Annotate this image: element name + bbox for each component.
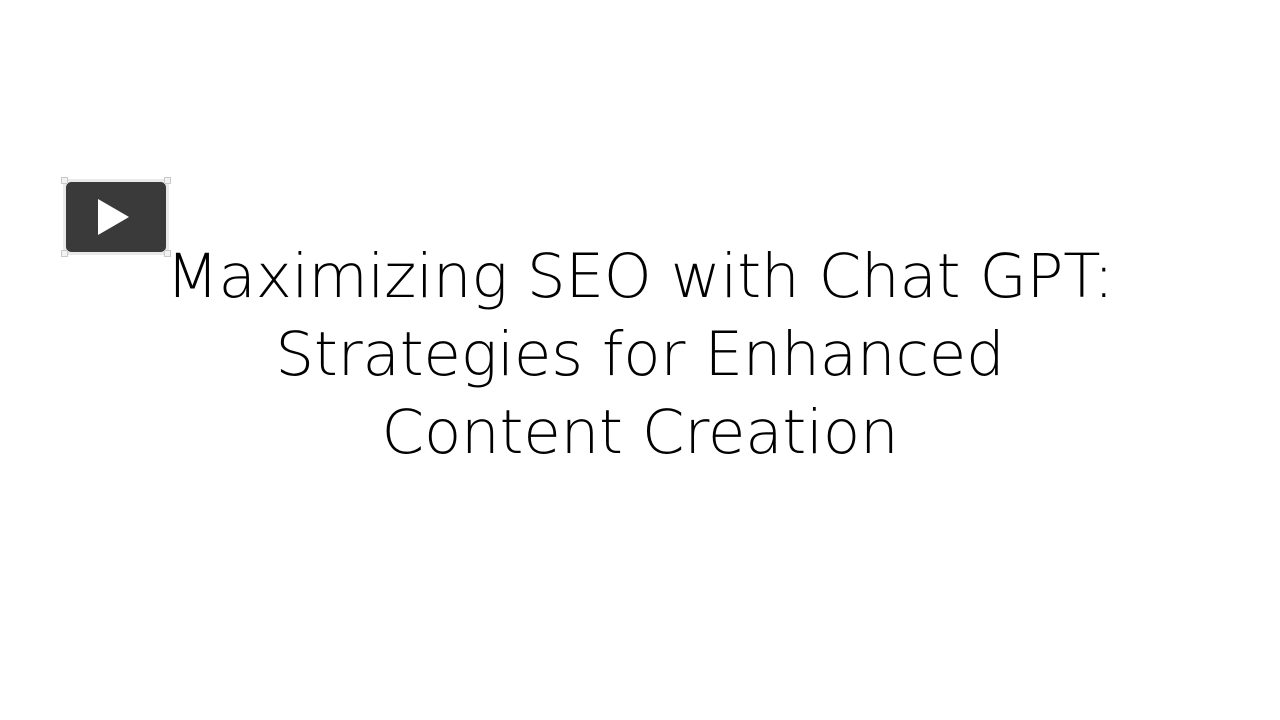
title-placeholder[interactable]: Maximizing SEO with Chat GPT: Strategies…: [160, 238, 1120, 472]
play-button-background[interactable]: [66, 182, 166, 252]
page-title: Maximizing SEO with Chat GPT: Strategies…: [160, 238, 1120, 472]
play-icon: [98, 199, 129, 235]
resize-handle-top-left[interactable]: [61, 177, 68, 184]
resize-handle-bottom-left[interactable]: [61, 250, 68, 257]
resize-handle-top-right[interactable]: [164, 177, 171, 184]
media-placeholder-object[interactable]: [63, 179, 169, 255]
slide-canvas: Maximizing SEO with Chat GPT: Strategies…: [0, 0, 1280, 720]
